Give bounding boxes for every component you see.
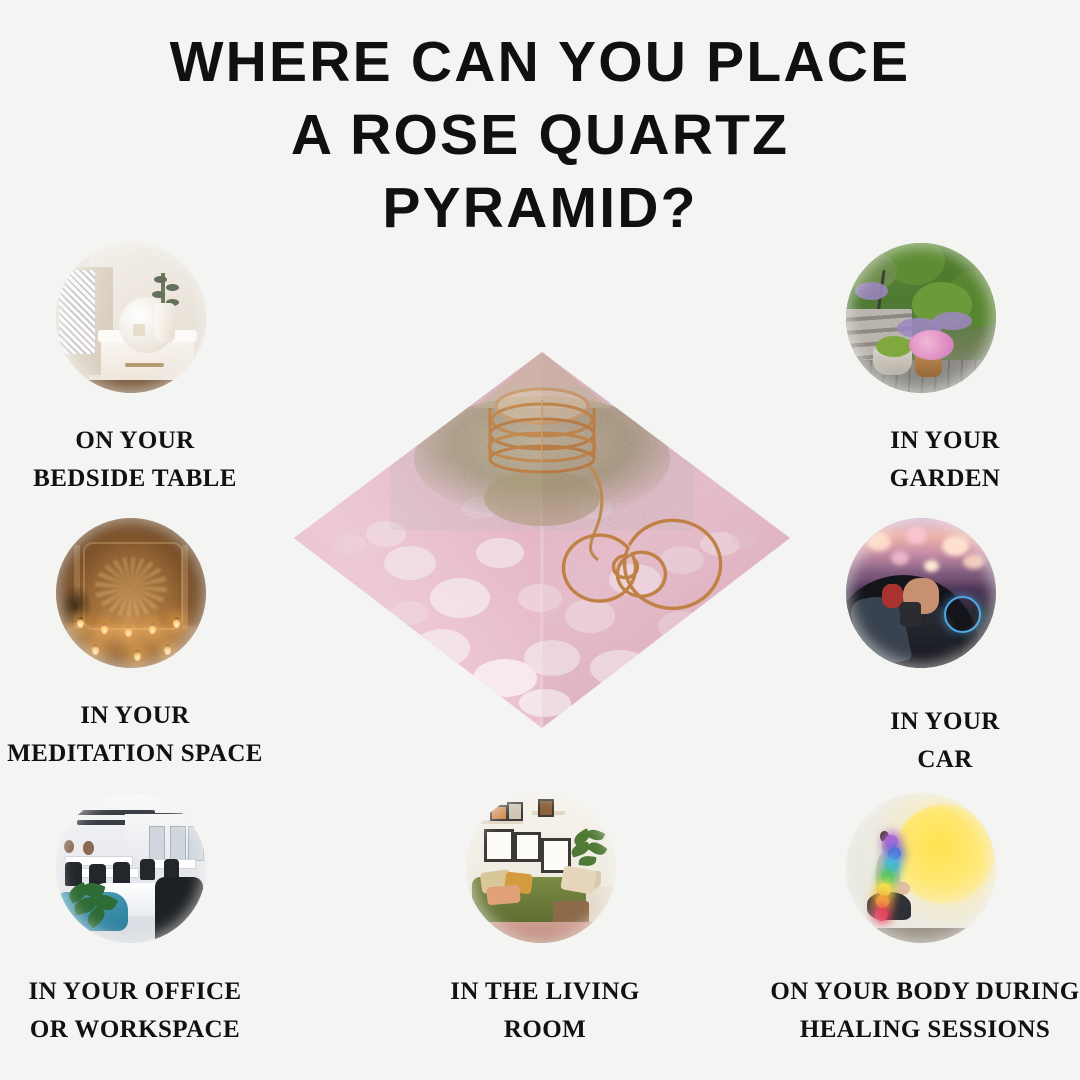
healing-session-scene [846,793,996,943]
caption-healing-sessions: ON YOUR BODY DURING HEALING SESSIONS [770,973,1080,1049]
caption-garden: IN YOUR GARDEN [810,422,1080,498]
caption-car-line2: CAR [810,741,1080,779]
caption-living-room: IN THE LIVING ROOM [410,973,680,1049]
garden-scene [846,243,996,393]
caption-car: IN YOUR CAR [810,703,1080,779]
car-photo [846,518,996,668]
bedside-table-scene [56,243,206,393]
caption-healing-sessions-line2: HEALING SESSIONS [770,1011,1080,1049]
living-room-photo [466,793,616,943]
caption-office-workspace-line1: IN YOUR OFFICE [0,973,270,1011]
car-scene [846,518,996,668]
caption-meditation-space: IN YOUR MEDITATION SPACE [0,697,270,773]
page-title: WHERE CAN YOU PLACE A ROSE QUARTZ PYRAMI… [0,26,1080,245]
caption-healing-sessions-line1: ON YOUR BODY DURING [770,973,1080,1011]
caption-office-workspace-line2: OR WORKSPACE [0,1011,270,1049]
garden-photo [846,243,996,393]
office-workspace-photo [56,793,206,943]
caption-garden-line1: IN YOUR [810,422,1080,460]
living-room-scene [466,793,616,943]
caption-office-workspace: IN YOUR OFFICE OR WORKSPACE [0,973,270,1049]
caption-meditation-space-line2: MEDITATION SPACE [0,735,270,773]
meditation-space-photo [56,518,206,668]
caption-car-line1: IN YOUR [810,703,1080,741]
infographic-canvas: WHERE CAN YOU PLACE A ROSE QUARTZ PYRAMI… [0,0,1080,1080]
caption-meditation-space-line1: IN YOUR [0,697,270,735]
caption-bedside-table-line1: ON YOUR [0,422,270,460]
title-line-1: WHERE CAN YOU PLACE [0,26,1080,99]
bedside-table-photo [56,243,206,393]
rose-quartz-pyramid-image [290,348,794,732]
caption-garden-line2: GARDEN [810,460,1080,498]
caption-bedside-table: ON YOUR BEDSIDE TABLE [0,422,270,498]
caption-bedside-table-line2: BEDSIDE TABLE [0,460,270,498]
title-line-3: PYRAMID? [0,172,1080,245]
meditation-space-scene [56,518,206,668]
title-line-2: A ROSE QUARTZ [0,99,1080,172]
caption-living-room-line1: IN THE LIVING [410,973,680,1011]
healing-session-photo [846,793,996,943]
caption-living-room-line2: ROOM [410,1011,680,1049]
office-workspace-scene [56,793,206,943]
